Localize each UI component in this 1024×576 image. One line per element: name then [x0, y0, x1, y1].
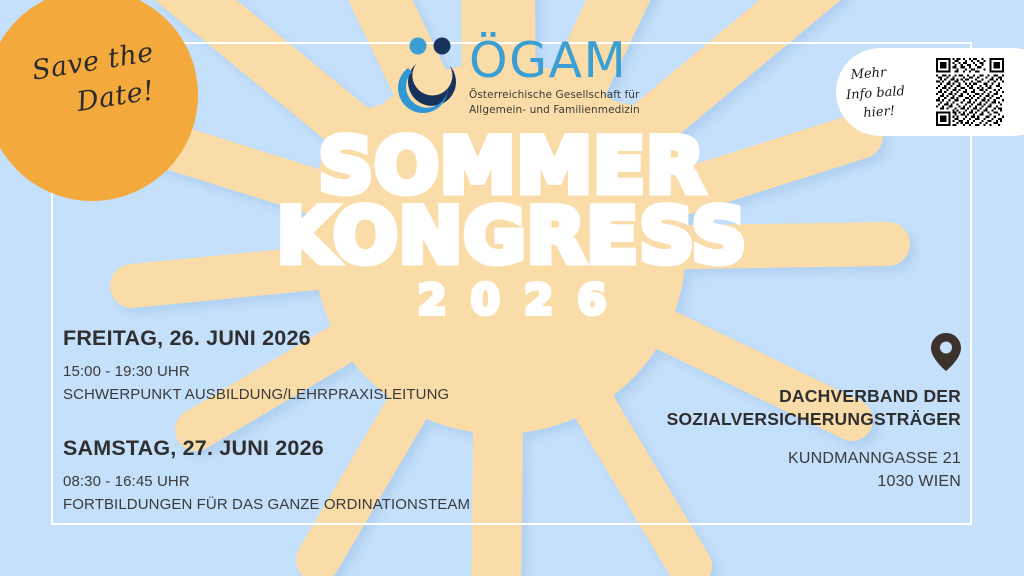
oegam-logo: ÖGAM Österreichische Gesellschaft für Al… [398, 36, 640, 118]
qr-info-panel[interactable]: Mehr Info bald hier! [836, 48, 1024, 136]
oegam-tagline: Österreichische Gesellschaft für Allgeme… [469, 88, 640, 118]
location-pin-icon [931, 333, 961, 371]
schedule-date: SAMSTAG, 27. JUNI 2026 [63, 436, 543, 461]
schedule-topic: SCHWERPUNKT AUSBILDUNG/LEHRPRAXISLEITUNG [63, 384, 543, 407]
schedule-date: FREITAG, 26. JUNI 2026 [63, 326, 543, 351]
oegam-tagline-line1: Österreichische Gesellschaft für [469, 89, 639, 101]
oegam-wordmark: ÖGAM [469, 38, 640, 84]
venue-name: DACHVERBAND DER SOZIALVERSICHERUNGSTRÄGE… [621, 385, 961, 431]
venue-name-line2: SOZIALVERSICHERUNGSTRÄGER [621, 408, 961, 431]
venue-city: 1030 WIEN [621, 470, 961, 493]
oegam-tagline-line2: Allgemein- und Familienmedizin [469, 104, 640, 116]
schedule-time: 08:30 - 16:45 UHR [63, 471, 543, 494]
oegam-logo-mark-icon [398, 36, 460, 116]
venue-block: DACHVERBAND DER SOZIALVERSICHERUNGSTRÄGE… [621, 333, 961, 494]
schedule-day: FREITAG, 26. JUNI 2026 15:00 - 19:30 UHR… [63, 326, 543, 406]
poster-canvas: Save the Date! ÖGAM Österreichische Gese… [0, 0, 1024, 576]
logo-dot-blue [410, 38, 427, 55]
save-the-date-text: Save the Date! [11, 31, 181, 132]
logo-arc-blue [398, 68, 448, 113]
venue-name-line1: DACHVERBAND DER [621, 385, 961, 408]
qr-note-text: Mehr Info bald hier! [850, 60, 932, 124]
venue-street: KUNDMANNGASSE 21 [621, 447, 961, 470]
oegam-logo-wordmark-block: ÖGAM Österreichische Gesellschaft für Al… [469, 36, 640, 118]
venue-address: KUNDMANNGASSE 21 1030 WIEN [621, 447, 961, 493]
schedule-block: FREITAG, 26. JUNI 2026 15:00 - 19:30 UHR… [63, 326, 543, 516]
logo-arc-navy [408, 64, 456, 106]
schedule-time: 15:00 - 19:30 UHR [63, 361, 543, 384]
schedule-topic: FORTBILDUNGEN FÜR DAS GANZE ORDINATIONST… [63, 494, 543, 517]
headline-year: 2026 [0, 279, 1024, 321]
headline-kongress: KONGRESS [0, 201, 1024, 271]
event-headline: SOMMER KONGRESS 2026 [0, 131, 1024, 321]
logo-dot-navy [434, 38, 451, 55]
schedule-day: SAMSTAG, 27. JUNI 2026 08:30 - 16:45 UHR… [63, 436, 543, 516]
qr-code-icon[interactable] [936, 58, 1004, 126]
qr-note-line3: hier! [863, 99, 932, 123]
